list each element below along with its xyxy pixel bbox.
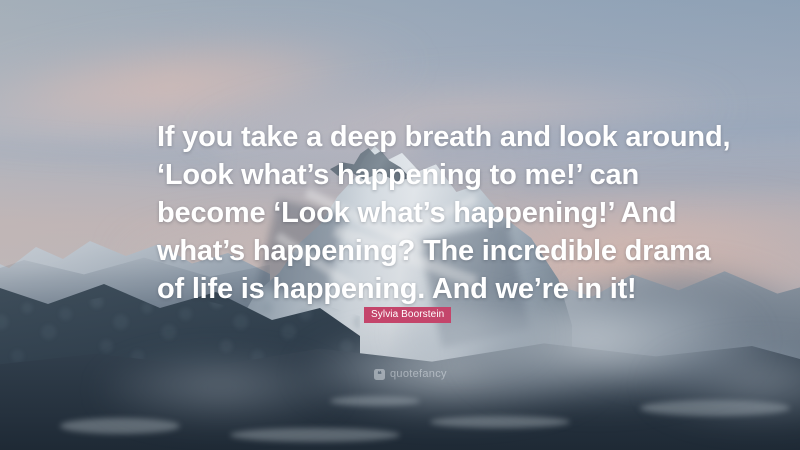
quote-line-4: what’s happening? The incredible drama — [157, 232, 651, 270]
quote-mark-glyph: ❝ — [377, 371, 381, 379]
quote-text-block: If you take a deep breath and look aroun… — [157, 118, 651, 308]
watermark-brand-label: quotefancy — [390, 369, 447, 380]
quote-image-card: If you take a deep breath and look aroun… — [0, 0, 800, 450]
quote-line-3: become ‘Look what’s happening!’ And — [157, 194, 651, 232]
valley-snow-patch — [230, 428, 400, 442]
quotefancy-watermark[interactable]: ❝ quotefancy — [374, 369, 447, 380]
author-name-badge[interactable]: Sylvia Boorstein — [364, 307, 451, 323]
quote-line-1: If you take a deep breath and look aroun… — [157, 118, 651, 156]
quote-line-2: ‘Look what’s happening to me!’ can — [157, 156, 651, 194]
quote-mark-icon: ❝ — [374, 369, 385, 380]
quote-line-5: of life is happening. And we’re in it! — [157, 270, 651, 308]
low-cloud-bank — [100, 356, 340, 426]
author-name-label: Sylvia Boorstein — [371, 310, 444, 320]
